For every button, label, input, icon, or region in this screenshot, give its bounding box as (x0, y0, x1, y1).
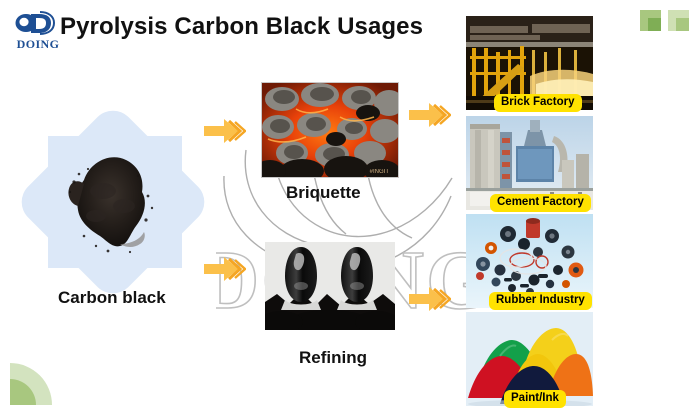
carbon-black-powder-photo (48, 136, 182, 268)
carbon-black-label: Carbon black (58, 288, 166, 308)
arrow-briquette-to-applications (409, 102, 451, 128)
refining-label: Refining (299, 348, 367, 368)
arrow-source-to-refining (204, 256, 246, 282)
page-title: Pyrolysis Carbon Black Usages (60, 13, 423, 41)
deco-square-1 (640, 10, 661, 31)
slide-canvas: DOING Pyrolysis Carbon Black Usages DOIN… (0, 0, 700, 418)
briquette-label: Briquette (286, 183, 361, 203)
deco-corner-arc (10, 363, 52, 405)
rubber-industry-tag: Rubber Industry (489, 292, 592, 310)
brick-factory-tag: Brick Factory (494, 94, 582, 112)
cement-factory-tag: Cement Factory (490, 194, 591, 212)
paint-ink-tag: Paint/Ink (504, 390, 566, 408)
arrow-refining-to-applications (409, 286, 451, 312)
burning-briquette-photo: #INGIT (261, 82, 399, 178)
doing-logo-icon: DOING (13, 10, 65, 52)
arrow-source-to-briquette (204, 118, 246, 144)
svg-text:#INGIT: #INGIT (370, 169, 390, 175)
deco-square-2 (668, 10, 689, 31)
svg-text:DOING: DOING (17, 37, 60, 51)
refined-carbon-black-pellets-photo (265, 242, 395, 330)
